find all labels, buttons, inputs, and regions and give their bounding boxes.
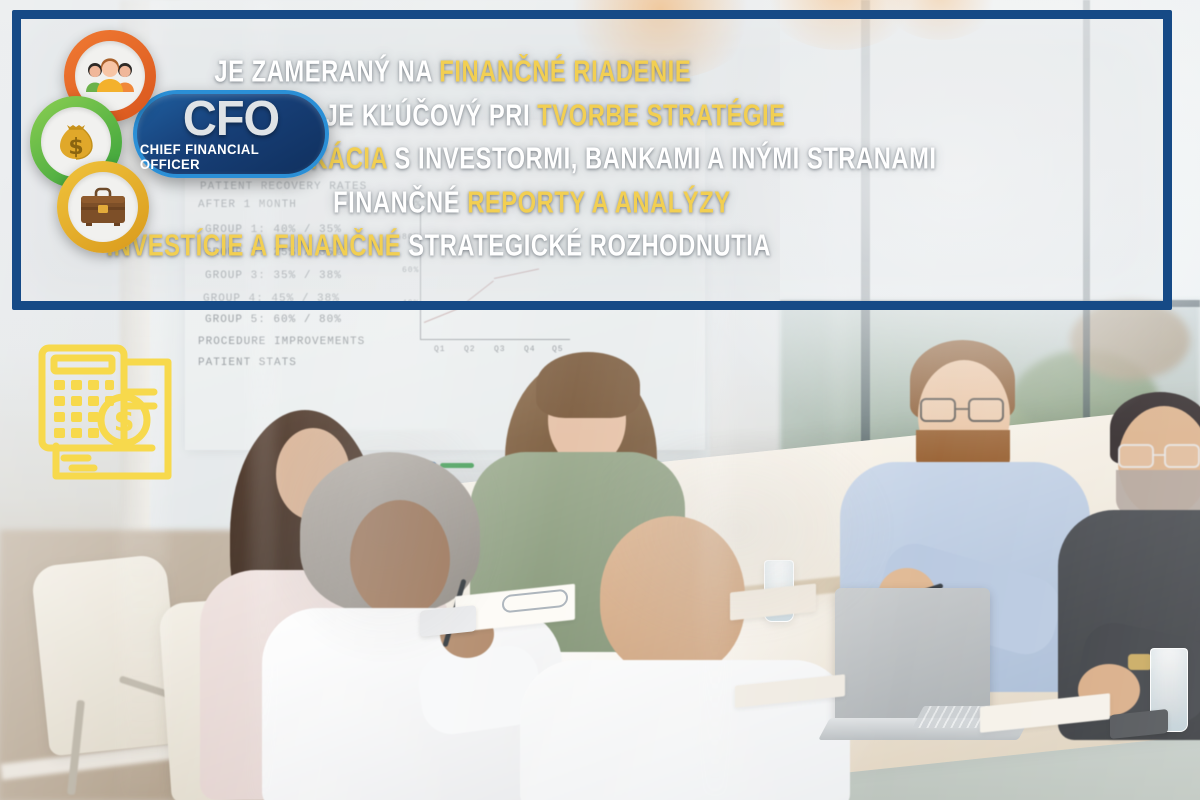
- eyeglasses-right: [1164, 444, 1200, 468]
- line1-white-before: JE ZAMERANÝ NA: [214, 56, 439, 89]
- line4-yellow: REPORTY A ANALÝZY: [467, 186, 730, 219]
- marker: [440, 463, 474, 468]
- whiteboard-note: PATIENT STATS: [198, 357, 297, 369]
- line1-yellow: FINANČNÉ RIADENIE: [439, 56, 691, 89]
- svg-text:$: $: [68, 135, 83, 160]
- dollar-glyph: $: [114, 404, 135, 439]
- calculator-invoice-dollar-icon: $: [28, 336, 188, 488]
- chart-xtick: Q4: [524, 345, 536, 354]
- line5-yellow: INVESTÍCIE A FINANČNÉ: [107, 230, 402, 263]
- cfo-badge-title: CFO: [183, 95, 279, 140]
- cfo-badge-subtitle: CHIEF FINANCIAL OFFICER: [140, 142, 322, 172]
- briefcase-glyph: [77, 185, 129, 229]
- wristwatch: [1128, 654, 1152, 670]
- cfo-badge: CFO CHIEF FINANCIAL OFFICER: [133, 90, 329, 178]
- whiteboard-note: PROCEDURE IMPROVEMENTS: [198, 336, 365, 348]
- eyeglasses-left: [1118, 444, 1154, 468]
- briefcase-icon-inner: [68, 172, 138, 242]
- line2-white-before: JE KĽÚČOVÝ PRI: [325, 99, 538, 132]
- money-bag-glyph: $: [52, 118, 100, 166]
- briefcase-icon: [57, 161, 149, 253]
- line4-white-before: FINANČNÉ: [333, 186, 467, 219]
- chart-xtick: Q5: [552, 345, 564, 354]
- message-line-4: FINANČNÉ REPORTY A ANALÝZY: [52, 188, 1114, 218]
- chart-xtick: Q3: [494, 345, 506, 354]
- cfo-infographic: PATIENT RECOVERY RATES AFTER 1 MONTH GRO…: [0, 0, 1200, 800]
- whiteboard-note: GROUP 5: 60% / 80%: [205, 314, 342, 326]
- eyeglasses-left: [920, 398, 956, 422]
- calculator-glyph: $: [28, 336, 188, 488]
- chart-xtick: Q1: [434, 345, 446, 354]
- eyeglasses-right: [968, 398, 1004, 422]
- message-line-5: INVESTÍCIE A FINANČNÉ STRATEGICKÉ ROZHOD…: [52, 232, 1114, 262]
- people-glyph: [83, 56, 137, 96]
- line3-white-after: S INVESTORMI, BANKAMI A INÝMI STRANAMI: [387, 143, 936, 176]
- line5-white-after: STRATEGICKÉ ROZHODNUTIA: [401, 230, 771, 263]
- chart-xtick: Q2: [464, 345, 476, 354]
- line2-yellow: TVORBE STRATÉGIE: [537, 99, 785, 132]
- message-line-1: JE ZAMERANÝ NA FINANČNÉ RIADENIE: [52, 58, 1114, 88]
